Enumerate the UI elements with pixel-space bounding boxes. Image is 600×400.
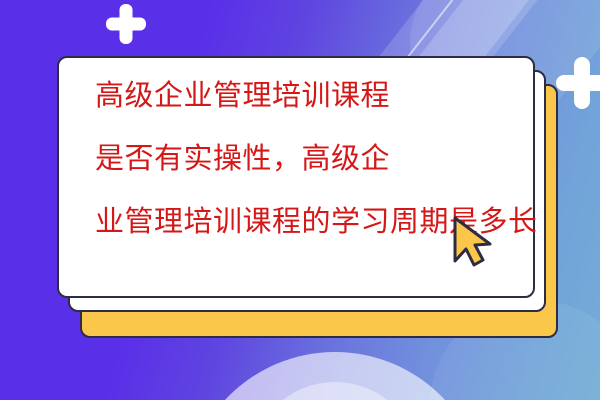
poster-canvas: 高级企业管理培训课程 是否有实操性，高级企 业管理培训课程的学习周期是多长 <box>0 0 600 400</box>
plus-icon-right <box>556 57 600 109</box>
plus-icon-top-left <box>106 4 146 44</box>
arrow-cursor[interactable] <box>452 216 494 268</box>
